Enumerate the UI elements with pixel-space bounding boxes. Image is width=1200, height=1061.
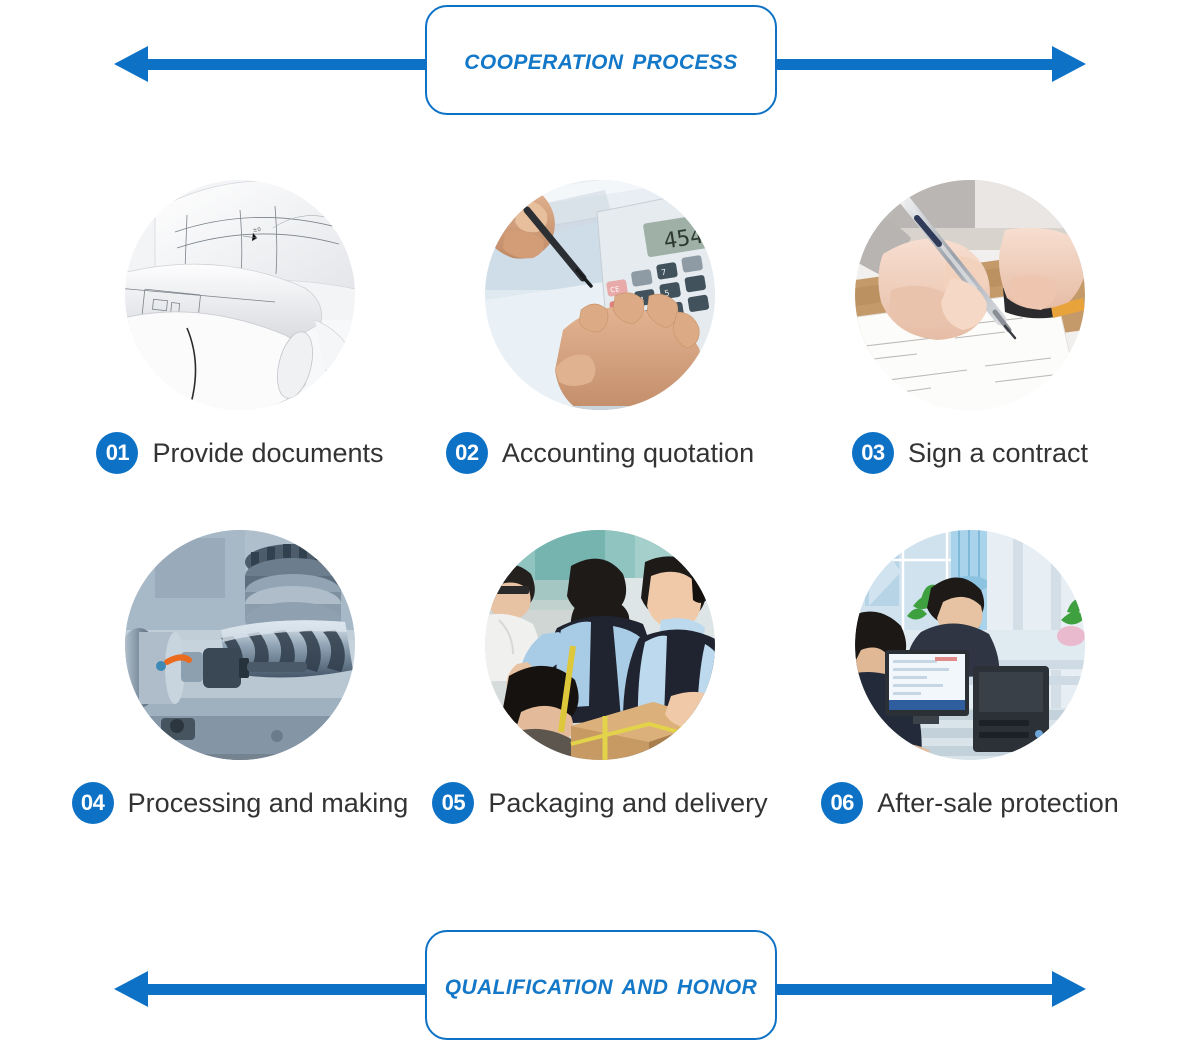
arrow-left-icon xyxy=(114,46,430,82)
signing-contract-photo xyxy=(855,170,1085,420)
cnc-machining-photo xyxy=(125,520,355,770)
arrow-right-icon xyxy=(772,971,1086,1007)
rolled-blueprints-photo: b1 60 W ±0 xyxy=(125,170,355,420)
step-number-badge: 05 xyxy=(432,782,474,824)
step-number-badge: 04 xyxy=(72,782,114,824)
step-number-badge: 06 xyxy=(821,782,863,824)
step-caption: 02 Accounting quotation xyxy=(400,432,800,474)
workers-packing-box-photo xyxy=(485,520,715,770)
svg-text:b1: b1 xyxy=(187,402,195,409)
step-caption: 01 Provide documents xyxy=(40,432,440,474)
svg-text:CE: CE xyxy=(610,285,620,294)
step-number-badge: 02 xyxy=(446,432,488,474)
step-label: Provide documents xyxy=(152,438,383,469)
process-step-06[interactable]: 06 After-sale protection xyxy=(770,520,1170,870)
step-label: After-sale protection xyxy=(877,788,1119,819)
arrow-right-icon xyxy=(772,46,1086,82)
step-number-badge: 03 xyxy=(852,432,894,474)
svg-text:60 W: 60 W xyxy=(245,409,262,417)
arrow-left-icon xyxy=(114,971,430,1007)
cooperation-process-banner: Cooperation process xyxy=(0,0,1200,130)
office-workers-computers-photo xyxy=(855,520,1085,770)
banner-title-box: Cooperation process xyxy=(425,5,777,115)
svg-text:±0: ±0 xyxy=(252,227,261,234)
process-step-02[interactable]: 454 CE ON xyxy=(400,170,800,520)
step-label: Sign a contract xyxy=(908,438,1088,469)
step-label: Packaging and delivery xyxy=(488,788,767,819)
hands-calculator-photo: 454 CE ON xyxy=(485,170,715,420)
step-label: Accounting quotation xyxy=(502,438,754,469)
banner-title-box: Qualification and honor xyxy=(425,930,777,1040)
step-caption: 03 Sign a contract xyxy=(770,432,1170,474)
step-caption: 06 After-sale protection xyxy=(770,782,1170,824)
process-step-05[interactable]: 05 Packaging and delivery xyxy=(400,520,800,870)
banner-title-text: Cooperation process xyxy=(464,43,737,77)
step-caption: 05 Packaging and delivery xyxy=(400,782,800,824)
step-caption: 04 Processing and making xyxy=(40,782,440,824)
qualification-and-honor-banner: Qualification and honor xyxy=(0,925,1200,1055)
banner-title-text: Qualification and honor xyxy=(445,968,757,1002)
process-step-03[interactable]: 03 Sign a contract xyxy=(770,170,1170,520)
process-step-04[interactable]: 04 Processing and making xyxy=(40,520,440,870)
process-steps-grid: b1 60 W ±0 xyxy=(0,170,1200,870)
step-label: Processing and making xyxy=(128,788,409,819)
process-step-01[interactable]: b1 60 W ±0 xyxy=(40,170,440,520)
step-number-badge: 01 xyxy=(96,432,138,474)
